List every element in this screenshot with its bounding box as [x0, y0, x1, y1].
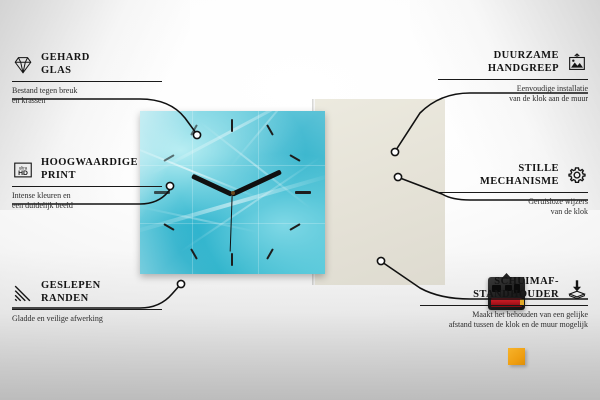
feature-title-line: MECHANISME — [480, 176, 559, 187]
divider — [420, 305, 588, 306]
feature-subtitle: Maakt het behouden van een gelijke afsta… — [420, 310, 588, 330]
feature-gehard-glas[interactable]: GEHARD GLAS Bestand tegen breuk en krass… — [12, 52, 162, 106]
feature-subtitle: Gladde en veilige afwerking — [12, 314, 162, 324]
divider — [12, 81, 162, 82]
feature-subtitle-line: Maakt het behouden van een gelijke — [472, 310, 588, 319]
divider — [12, 186, 162, 187]
feature-subtitle: Bestand tegen breuk en krassen — [12, 86, 162, 106]
feature-header: GEHARD GLAS — [12, 52, 162, 77]
feature-hoogwaardige-print[interactable]: ultra HD HOOGWAARDIGE PRINT Intense kleu… — [12, 157, 162, 211]
divider — [438, 79, 588, 80]
feature-header: SCHUIMAF- STANDHOUDER — [420, 276, 588, 301]
feature-schuimafstandhouder[interactable]: SCHUIMAF- STANDHOUDER Maakt het behouden… — [420, 276, 588, 330]
feature-title-line: STILLE — [518, 163, 559, 174]
feature-title: STILLE MECHANISME — [480, 163, 559, 188]
svg-text:HD: HD — [18, 170, 28, 177]
hour-tick-1 — [266, 124, 274, 135]
ultra-hd-icon: ultra HD — [12, 159, 34, 181]
wall-panel — [315, 99, 445, 285]
foam-spacer — [508, 348, 525, 365]
feature-duurzame-handgreep[interactable]: DUURZAME HANDGREEP Eenvoudige installati… — [438, 50, 588, 104]
hour-tick-6 — [231, 253, 233, 266]
feature-subtitle: Eenvoudige installatie van de klok aan d… — [438, 84, 588, 104]
feature-title-line: PRINT — [41, 170, 76, 181]
feature-title: DUURZAME HANDGREEP — [488, 50, 559, 75]
down-arrow-pad-icon — [566, 278, 588, 300]
feather-streak — [149, 111, 318, 176]
feature-header: GESLEPEN RANDEN — [12, 280, 162, 305]
hour-tick-2 — [289, 154, 300, 162]
clock-hand-hub — [231, 191, 235, 195]
hour-tick-8 — [163, 223, 174, 231]
feature-stille-mechanisme[interactable]: STILLE MECHANISME Geruisloze wijzers van… — [438, 163, 588, 217]
feature-title-line: HANDGREEP — [488, 63, 559, 74]
feature-subtitle: Geruisloze wijzers van de klok — [438, 197, 588, 217]
product-photo — [140, 105, 340, 285]
feature-subtitle-line: Geruisloze wijzers — [528, 197, 588, 206]
product-infographic: GEHARD GLAS Bestand tegen breuk en krass… — [0, 0, 600, 400]
feature-title-line: DUURZAME — [494, 50, 559, 61]
feature-title: GESLEPEN RANDEN — [41, 280, 101, 305]
feature-title-line: GEHARD — [41, 52, 90, 63]
hour-tick-5 — [266, 248, 274, 259]
divider — [12, 309, 162, 310]
feature-header: STILLE MECHANISME — [438, 163, 588, 188]
feature-subtitle: Intense kleuren en een duidelijk beeld — [12, 191, 162, 211]
hour-tick-4 — [289, 223, 300, 231]
feature-title-line: GESLEPEN — [41, 280, 101, 291]
glass-reflection-line — [140, 165, 325, 166]
bevelled-edges-icon — [12, 282, 34, 304]
feature-title-line: STANDHOUDER — [473, 289, 559, 300]
glass-reflection-line — [258, 111, 259, 274]
feature-title: HOOGWAARDIGE PRINT — [41, 157, 138, 182]
feature-title-line: HOOGWAARDIGE — [41, 157, 138, 168]
feature-header: DUURZAME HANDGREEP — [438, 50, 588, 75]
feature-subtitle-line: Gladde en veilige afwerking — [12, 314, 103, 323]
diamond-icon — [12, 54, 34, 76]
picture-hanger-icon — [566, 52, 588, 74]
feature-title-line: RANDEN — [41, 293, 89, 304]
hour-tick-3 — [295, 191, 311, 194]
feature-subtitle-line: van de klok aan de muur — [509, 94, 588, 103]
hour-tick-12 — [231, 119, 233, 132]
feature-title-line: SCHUIMAF- — [494, 276, 559, 287]
feature-subtitle-line: van de klok — [551, 207, 588, 216]
feature-subtitle-line: Eenvoudige installatie — [517, 84, 588, 93]
feature-subtitle-line: en krassen — [12, 96, 46, 105]
feature-subtitle-line: een duidelijk beeld — [12, 201, 73, 210]
wall-clock-face — [140, 111, 325, 274]
feature-subtitle-line: afstand tussen de klok en de muur mogeli… — [449, 320, 588, 329]
feature-subtitle-line: Intense kleuren en — [12, 191, 71, 200]
feature-header: ultra HD HOOGWAARDIGE PRINT — [12, 157, 162, 182]
feature-subtitle-line: Bestand tegen breuk — [12, 86, 77, 95]
feature-title: SCHUIMAF- STANDHOUDER — [473, 276, 559, 301]
feature-geslepen-randen[interactable]: GESLEPEN RANDEN Gladde en veilige afwerk… — [12, 280, 162, 324]
feature-title-line: GLAS — [41, 65, 71, 76]
divider — [438, 192, 588, 193]
gear-icon — [566, 165, 588, 187]
feature-title: GEHARD GLAS — [41, 52, 90, 77]
feather-streak — [179, 156, 321, 253]
